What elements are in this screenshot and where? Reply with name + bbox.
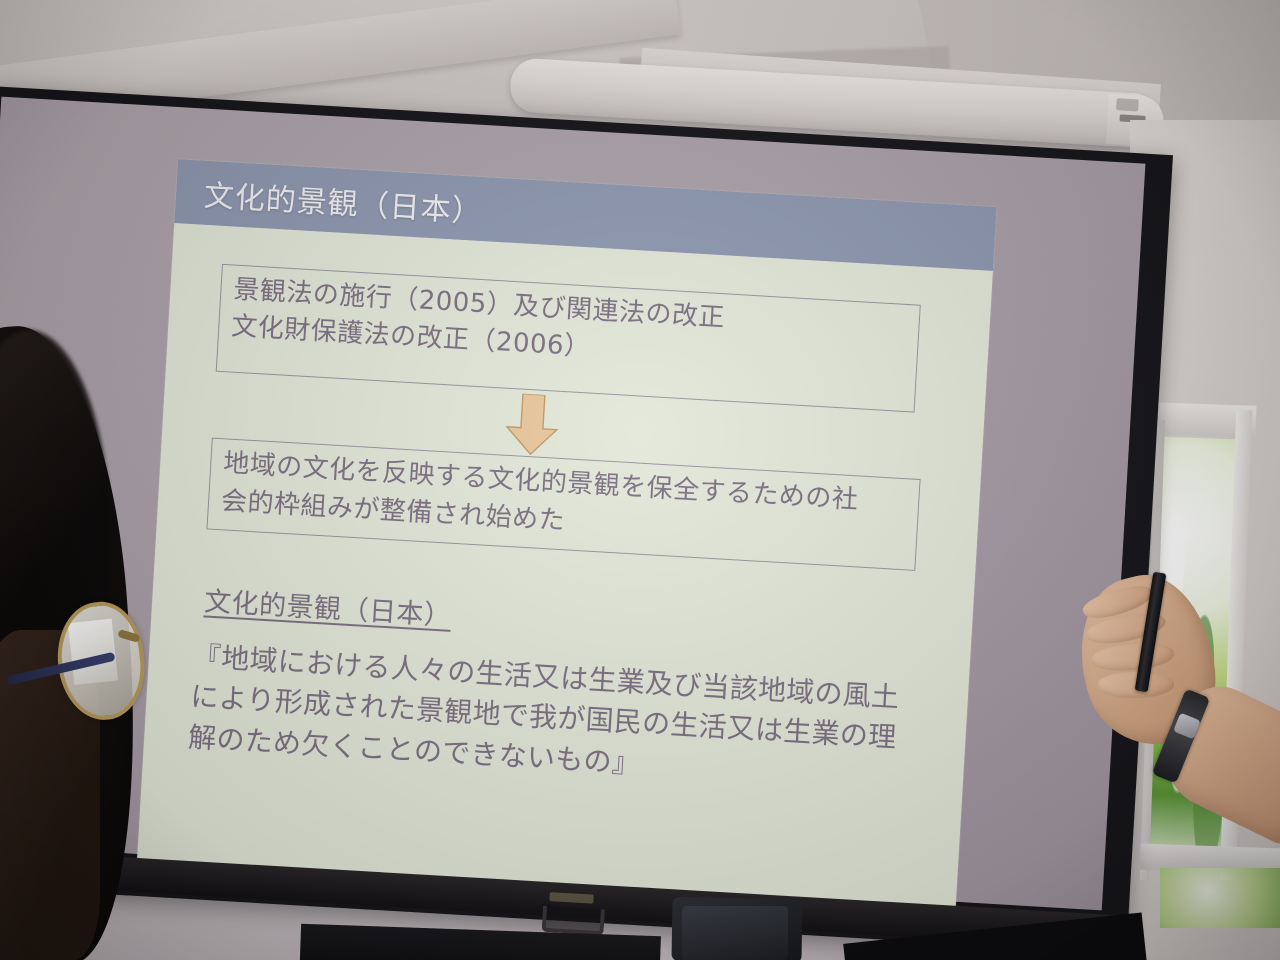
foreground-device-screen — [682, 906, 788, 960]
presentation-slide: 文化的景観（日本） 景観法の施行（2005）及び関連法の改正 文化財保護法の改正… — [137, 159, 997, 914]
roller-logo — [1116, 98, 1139, 111]
definition-heading: 文化的景観（日本） — [203, 579, 452, 632]
photo-scene: 文化的景観（日本） 景観法の施行（2005）及び関連法の改正 文化財保護法の改正… — [0, 0, 1280, 960]
outcome-box: 地域の文化を反映する文化的景観を保全するための社 会的枠組みが整備され始めた — [206, 438, 920, 571]
screen-surface: 文化的景観（日本） 景観法の施行（2005）及び関連法の改正 文化財保護法の改正… — [0, 97, 1145, 911]
projection-screen: 文化的景観（日本） 景観法の施行（2005）及び関連法の改正 文化財保護法の改正… — [0, 86, 1173, 954]
down-arrow-icon — [499, 392, 565, 458]
screen-pull-handle[interactable] — [542, 906, 605, 936]
window-lower-pane — [1160, 868, 1280, 928]
definition-quote: 『地域における人々の生活又は生業及び当該地域の風土 により形成された景観地で我が… — [187, 637, 933, 801]
law-enactment-box: 景観法の施行（2005）及び関連法の改正 文化財保護法の改正（2006） — [216, 264, 921, 413]
slide-body: 景観法の施行（2005）及び関連法の改正 文化財保護法の改正（2006） 地域の… — [137, 223, 993, 914]
